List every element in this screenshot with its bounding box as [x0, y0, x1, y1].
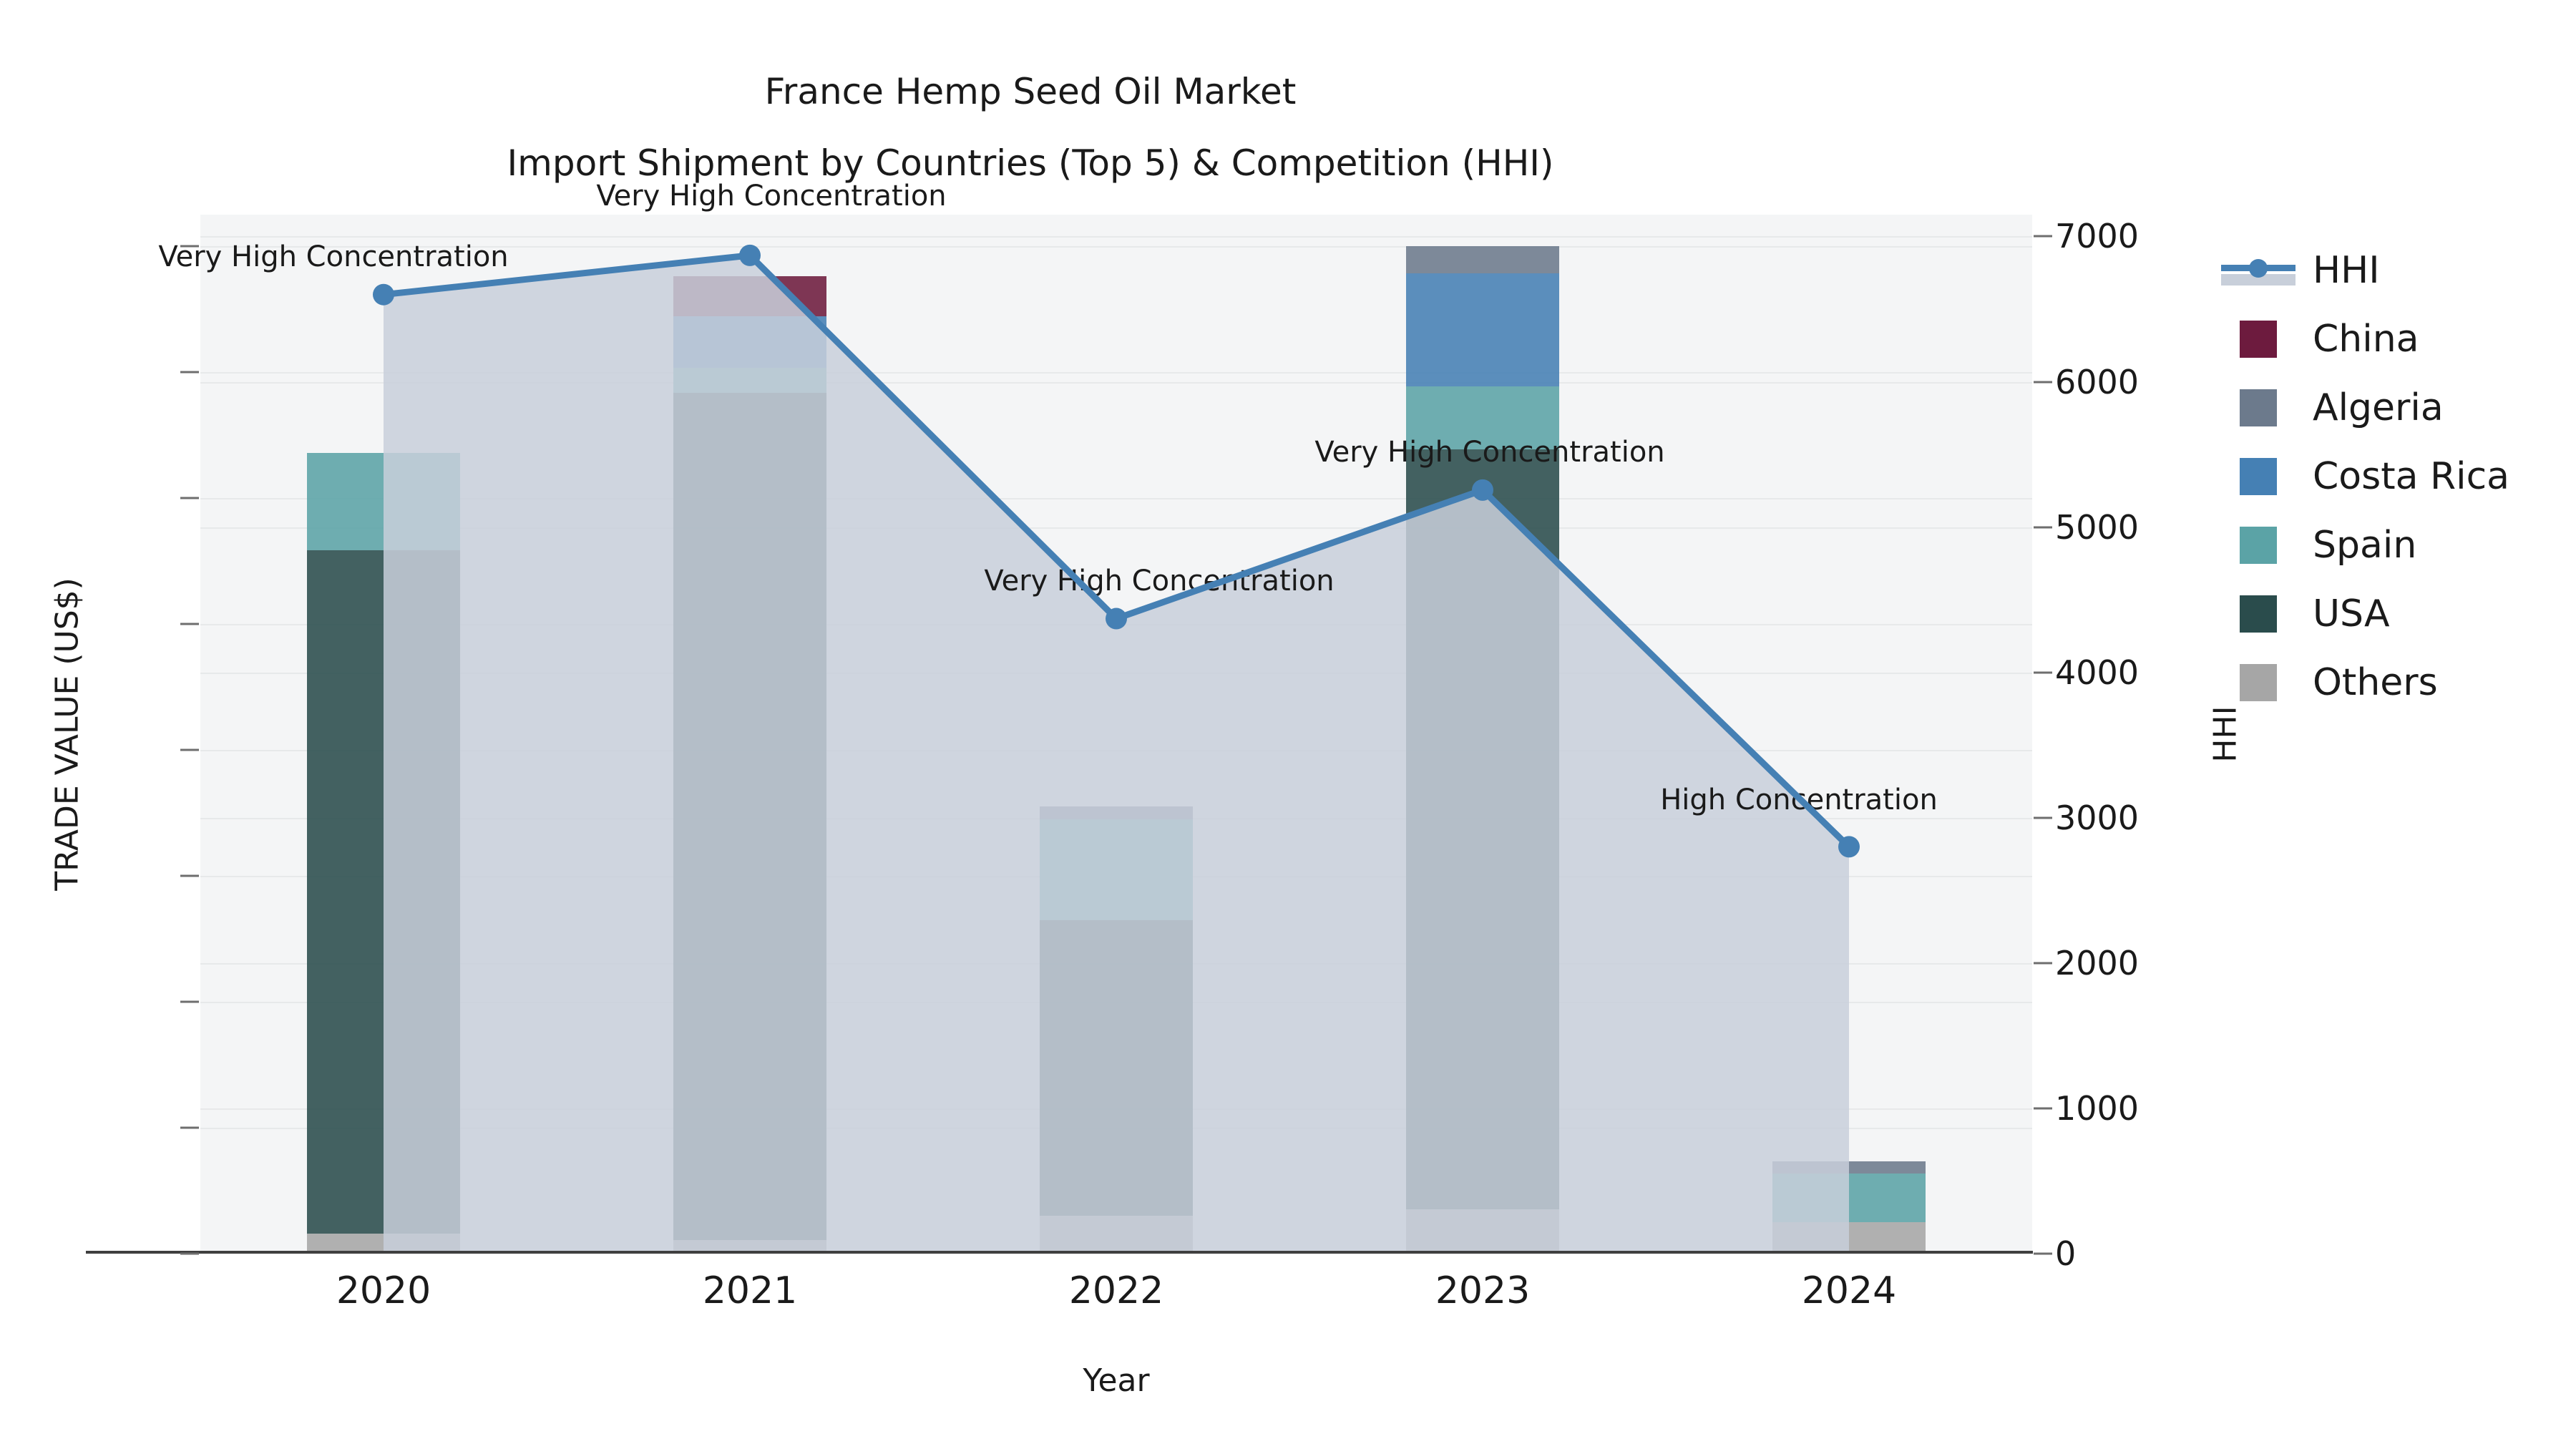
hhi-line-top-layer: [200, 215, 2032, 1254]
legend-item-label: Costa Rica: [2313, 455, 2509, 498]
y-axis-tick-mark: [180, 371, 199, 374]
y-axis-right-label: HHI: [2207, 706, 2244, 762]
legend-color-swatch-icon: [2240, 527, 2277, 564]
chart-legend: HHIChinaAlgeriaCosta RicaSpainUSAOthers: [2240, 236, 2509, 717]
hhi-annotation: Very High Concentration: [596, 180, 946, 213]
y-axis-tick-mark: [180, 245, 199, 248]
legend-item-others[interactable]: Others: [2240, 648, 2509, 717]
y-axis-tick-mark: [180, 623, 199, 625]
legend-color-swatch-icon: [2240, 389, 2277, 426]
x-axis-tick-label: 2023: [1340, 1269, 1626, 1312]
y-axis-tick-mark: [180, 1001, 199, 1003]
y-axis-tick-mark: [180, 1127, 199, 1129]
legend-item-label: Others: [2313, 661, 2438, 704]
y-axis-tick-mark: [180, 875, 199, 877]
chart-title-block: France Hemp Seed Oil Market Import Shipm…: [0, 56, 2061, 199]
hhi-point-marker[interactable]: [1472, 479, 1493, 501]
legend-color-swatch-icon: [2240, 595, 2277, 633]
y2-axis-tick-mark: [2034, 1253, 2052, 1255]
y-axis-tick-mark: [180, 1253, 199, 1255]
legend-item-label: USA: [2313, 592, 2390, 635]
y2-axis-tick-mark: [2034, 671, 2052, 673]
legend-line-marker-icon: [2240, 252, 2277, 289]
y2-axis-tick-label: 1000: [2055, 1089, 2341, 1128]
legend-line-dot: [2249, 259, 2268, 278]
legend-item-label: HHI: [2313, 249, 2380, 292]
legend-item-hhi[interactable]: HHI: [2240, 236, 2509, 305]
legend-color-swatch-icon: [2240, 321, 2277, 358]
y-axis-tick-mark: [180, 749, 199, 751]
y2-axis-tick-label: 2000: [2055, 944, 2341, 982]
hhi-point-marker[interactable]: [1838, 836, 1860, 857]
x-axis-tick-label: 2021: [607, 1269, 893, 1312]
y2-axis-tick-mark: [2034, 526, 2052, 528]
plot-inner: Very High ConcentrationVery High Concent…: [200, 215, 2032, 1254]
legend-item-label: China: [2313, 318, 2419, 361]
legend-item-label: Algeria: [2313, 386, 2444, 429]
x-axis-tick-label: 2020: [240, 1269, 527, 1312]
legend-item-spain[interactable]: Spain: [2240, 511, 2509, 580]
legend-color-swatch-icon: [2240, 458, 2277, 495]
chart-title: France Hemp Seed Oil Market: [0, 56, 2061, 127]
x-axis-label: Year: [1083, 1362, 1149, 1399]
y2-axis-tick-mark: [2034, 381, 2052, 383]
y2-axis-tick-mark: [2034, 816, 2052, 819]
y2-axis-tick-mark: [2034, 235, 2052, 238]
y-axis-left-label: TRADE VALUE (US$): [49, 577, 86, 891]
x-axis-tick-label: 2022: [973, 1269, 1259, 1312]
legend-item-algeria[interactable]: Algeria: [2240, 374, 2509, 442]
hhi-line: [384, 255, 1849, 847]
y2-axis-tick-label: 0: [2055, 1234, 2341, 1273]
legend-item-usa[interactable]: USA: [2240, 580, 2509, 648]
y2-axis-tick-mark: [2034, 1107, 2052, 1109]
legend-color-swatch-icon: [2240, 664, 2277, 701]
hhi-point-marker[interactable]: [1106, 608, 1127, 630]
plot-area: Very High ConcentrationVery High Concent…: [200, 215, 2032, 1254]
legend-item-label: Spain: [2313, 524, 2416, 567]
y-axis-tick-mark: [180, 497, 199, 499]
legend-item-china[interactable]: China: [2240, 305, 2509, 374]
y2-axis-tick-mark: [2034, 962, 2052, 964]
chart-subtitle: Import Shipment by Countries (Top 5) & C…: [0, 127, 2061, 199]
y2-axis-tick-label: 3000: [2055, 799, 2341, 837]
hhi-point-marker[interactable]: [739, 245, 761, 266]
x-axis-tick-label: 2024: [1706, 1269, 1992, 1312]
hhi-point-marker[interactable]: [373, 284, 394, 306]
legend-item-costa-rica[interactable]: Costa Rica: [2240, 442, 2509, 511]
chart-canvas: France Hemp Seed Oil Market Import Shipm…: [0, 0, 2576, 1449]
